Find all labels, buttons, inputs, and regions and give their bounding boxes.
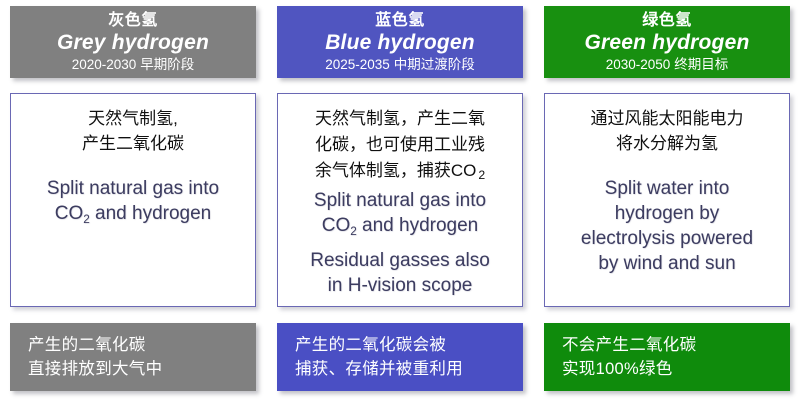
content-cn-line: 化碳，也可使用工业残 (315, 132, 485, 158)
column-green-hydrogen: 绿色氢 Green hydrogen 2030-2050终期目标 通过风能太阳能… (544, 6, 790, 399)
content-cn-line: 天然气制氢, (82, 106, 184, 131)
header-title-cn-green: 绿色氢 (642, 11, 692, 30)
column-grey-hydrogen: 灰色氢 Grey hydrogen 2020-2030早期阶段 天然气制氢, 产… (10, 6, 256, 399)
header-title-cn-grey: 灰色氢 (108, 11, 158, 30)
header-subtitle-blue: 2025-2035中期过渡阶段 (325, 55, 475, 74)
footer-line: 实现100%绿色 (562, 357, 673, 381)
content-en-line: hydrogen by (581, 201, 753, 226)
content-en-line: Split water into (581, 176, 753, 201)
content-en-green-p1: Split water into hydrogen by electrolysi… (581, 176, 753, 276)
content-card-blue: 天然气制氢，产生二氧 化碳，也可使用工业残 余气体制氢，捕获CO2 Split … (277, 93, 523, 307)
header-phase-green: 终期目标 (674, 57, 728, 72)
content-cn-blue: 天然气制氢，产生二氧 化碳，也可使用工业残 余气体制氢，捕获CO2 (315, 106, 485, 185)
header-card-green: 绿色氢 Green hydrogen 2030-2050终期目标 (544, 6, 790, 78)
content-cn-grey: 天然气制氢, 产生二氧化碳 (82, 106, 184, 156)
header-years-green: 2030-2050 (606, 57, 671, 72)
header-title-en-blue: Blue hydrogen (325, 30, 475, 55)
content-cn-green: 通过风能太阳能电力 将水分解为氢 (591, 106, 744, 156)
content-en-line: Residual gasses also (310, 248, 490, 273)
column-blue-hydrogen: 蓝色氢 Blue hydrogen 2025-2035中期过渡阶段 天然气制氢，… (277, 6, 523, 399)
footer-card-grey: 产生的二氧化碳 直接排放到大气中 (10, 323, 256, 391)
header-years-blue: 2025-2035 (325, 57, 390, 72)
header-card-blue: 蓝色氢 Blue hydrogen 2025-2035中期过渡阶段 (277, 6, 523, 78)
footer-line: 不会产生二氧化碳 (562, 333, 696, 357)
footer-line: 捕获、存储并被重利用 (295, 357, 463, 381)
header-title-cn-blue: 蓝色氢 (375, 11, 425, 30)
footer-card-blue: 产生的二氧化碳会被 捕获、存储并被重利用 (277, 323, 523, 391)
content-cn-line: 天然气制氢，产生二氧 (315, 106, 485, 132)
content-cn-line: 将水分解为氢 (591, 131, 744, 156)
content-en-blue-p2: Residual gasses also in H-vision scope (310, 248, 490, 298)
comparison-slide: 灰色氢 Grey hydrogen 2020-2030早期阶段 天然气制氢, 产… (0, 0, 800, 407)
content-en-line: Split natural gas into (314, 188, 486, 213)
content-en-line-co2: CO2 and hydrogen (47, 201, 219, 228)
content-card-grey: 天然气制氢, 产生二氧化碳 Split natural gas into CO2… (10, 93, 256, 307)
subscript-2: 2 (83, 213, 90, 226)
footer-card-green: 不会产生二氧化碳 实现100%绿色 (544, 323, 790, 391)
subscript-2: 2 (478, 168, 485, 182)
header-subtitle-green: 2030-2050终期目标 (606, 55, 729, 74)
header-title-en-grey: Grey hydrogen (57, 30, 209, 55)
header-subtitle-grey: 2020-2030早期阶段 (72, 55, 195, 74)
content-en-line: in H-vision scope (310, 273, 490, 298)
header-title-en-green: Green hydrogen (585, 30, 750, 55)
content-card-green: 通过风能太阳能电力 将水分解为氢 Split water into hydrog… (544, 93, 790, 307)
content-en-line: by wind and sun (581, 251, 753, 276)
content-en-line: Split natural gas into (47, 176, 219, 201)
footer-line: 直接排放到大气中 (28, 357, 162, 381)
header-phase-blue: 中期过渡阶段 (394, 57, 475, 72)
content-en-grey-p1: Split natural gas into CO2 and hydrogen (47, 176, 219, 228)
subscript-2: 2 (350, 225, 357, 238)
content-en-line-co2: CO2 and hydrogen (314, 213, 486, 240)
content-cn-line: 通过风能太阳能电力 (591, 106, 744, 131)
content-cn-line: 产生二氧化碳 (82, 131, 184, 156)
header-card-grey: 灰色氢 Grey hydrogen 2020-2030早期阶段 (10, 6, 256, 78)
content-en-blue-p1: Split natural gas into CO2 and hydrogen (314, 188, 486, 240)
footer-line: 产生的二氧化碳 (28, 333, 146, 357)
content-cn-line-co2: 余气体制氢，捕获CO2 (315, 158, 485, 185)
content-en-line: electrolysis powered (581, 226, 753, 251)
footer-line: 产生的二氧化碳会被 (295, 333, 446, 357)
header-years-grey: 2020-2030 (72, 57, 137, 72)
header-phase-grey: 早期阶段 (140, 57, 194, 72)
